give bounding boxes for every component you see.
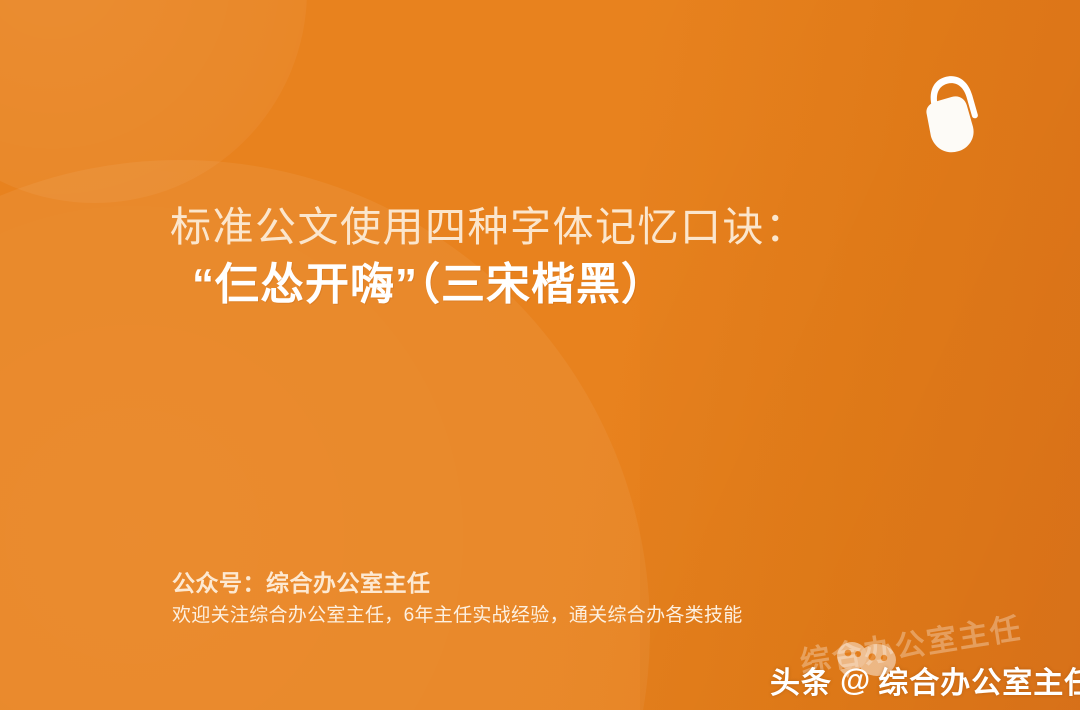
title-line-secondary: “仨怂开嗨”（三宋楷黑） — [192, 258, 960, 312]
public-account-name: 公众号：综合办公室主任 — [172, 568, 932, 599]
at-symbol: @ — [838, 662, 872, 698]
public-account-description: 欢迎关注综合办公室主任，6年主任实战经验，通关综合办各类技能 — [172, 603, 932, 629]
title-line-primary: 标准公文使用四种字体记忆口诀： — [170, 203, 960, 252]
slide-title: 标准公文使用四种字体记忆口诀： “仨怂开嗨”（三宋楷黑） — [170, 203, 960, 312]
presentation-slide: 标准公文使用四种字体记忆口诀： “仨怂开嗨”（三宋楷黑） 公众号：综合办公室主任… — [0, 0, 1080, 710]
lock-icon — [898, 60, 1002, 164]
footer-info: 公众号：综合办公室主任 欢迎关注综合办公室主任，6年主任实战经验，通关综合办各类… — [172, 568, 932, 629]
toutiao-watermark: 头条 @ 综合办公室主任 — [770, 658, 1080, 702]
toutiao-handle: 综合办公室主任 — [878, 658, 1080, 702]
toutiao-platform-label: 头条 — [770, 658, 832, 702]
